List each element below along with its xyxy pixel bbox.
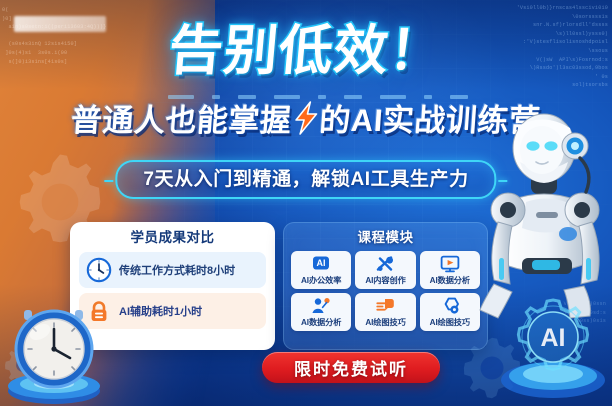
blurred-text-bar	[14, 16, 106, 32]
module-label: AI数据分析	[430, 275, 470, 286]
module-label: AI绘图技巧	[365, 317, 405, 328]
module-label: AI内容创作	[365, 275, 405, 286]
module-tile-ai-data-1[interactable]: AI数据分析	[420, 251, 480, 289]
cta-button[interactable]: 限时免费试听	[262, 352, 440, 383]
module-label: AI绘图技巧	[430, 317, 470, 328]
module-tile-ai-office[interactable]: AI AI办公效率	[291, 251, 351, 289]
comparison-body-ai: AI辅助耗时1小时	[119, 302, 259, 320]
module-tile-ai-data-2[interactable]: AI数据分析	[291, 293, 351, 331]
hex-gear-icon	[439, 296, 461, 316]
results-card: 学员成果对比 传统工作方式耗时8小时	[70, 222, 275, 350]
module-label: AI数据分析	[301, 317, 341, 328]
comparison-label-traditional: 传统工作方式耗时8小时	[119, 265, 235, 277]
modules-grid: AI AI办公效率 AI内容创作	[291, 251, 480, 331]
pen-brush-icon	[374, 254, 396, 274]
svg-text:AI: AI	[317, 258, 326, 268]
module-label: AI办公效率	[301, 275, 341, 286]
tagline-badge: 7天从入门到精通，解锁AI工具生产力	[115, 160, 496, 199]
comparison-body-traditional: 传统工作方式耗时8小时	[119, 261, 259, 279]
module-tile-ai-draw-2[interactable]: AI绘图技巧	[420, 293, 480, 331]
lock-icon	[86, 298, 112, 324]
monitor-play-icon	[439, 254, 461, 274]
chat-bubble-icon	[374, 296, 396, 316]
comparison-row-ai: AI辅助耗时1小时	[79, 293, 266, 329]
person-chart-icon	[310, 296, 332, 316]
clock-icon	[86, 257, 112, 283]
modules-card: 课程模块 AI AI办公效率	[283, 222, 488, 350]
module-tile-ai-draw-1[interactable]: AI绘图技巧	[355, 293, 415, 331]
results-card-title: 学员成果对比	[79, 228, 266, 247]
tech-dash-ornament	[168, 92, 468, 102]
module-tile-ai-content[interactable]: AI内容创作	[355, 251, 415, 289]
comparison-label-ai: AI辅助耗时1小时	[119, 306, 202, 318]
modules-card-title: 课程模块	[291, 228, 480, 247]
comparison-row-traditional: 传统工作方式耗时8小时	[79, 252, 266, 288]
promo-banner: 0( )0] a1n)s0setn:i((peri13603:4Q)))} (s…	[0, 0, 612, 406]
ai-badge-icon: AI	[310, 254, 332, 274]
